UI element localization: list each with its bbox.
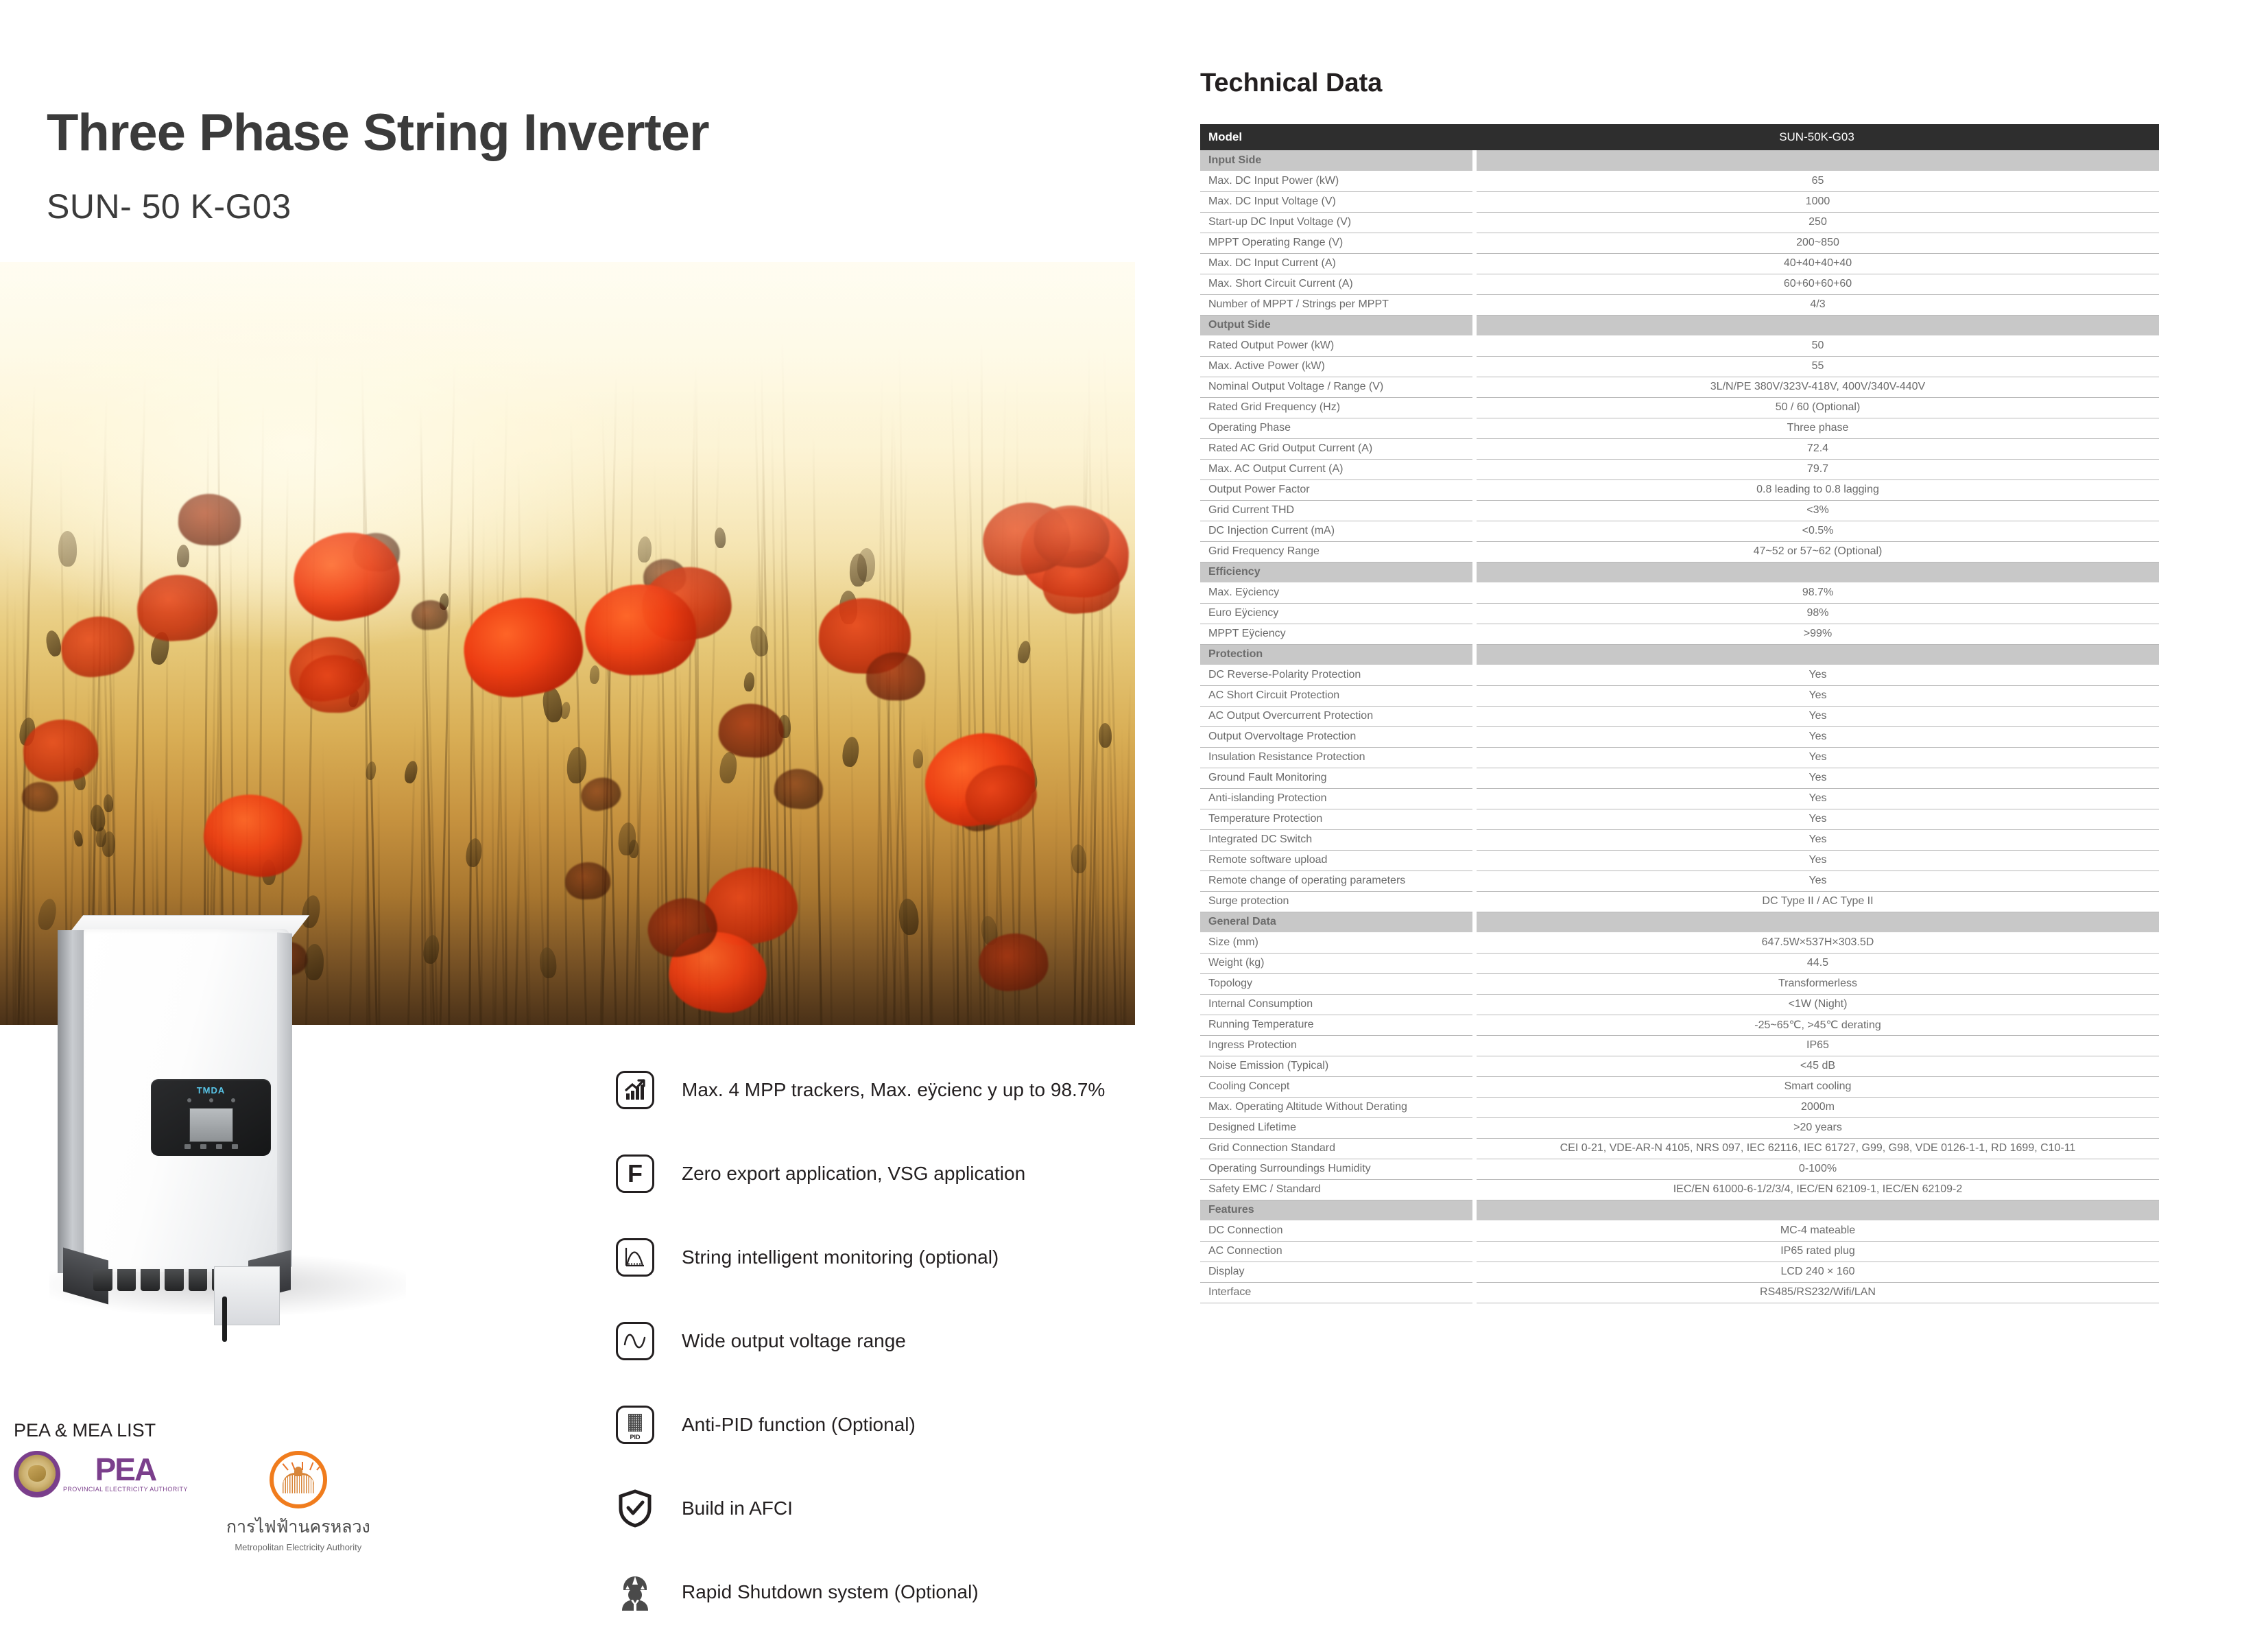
spec-section-row: Features xyxy=(1200,1200,2159,1220)
spec-row-label: AC Connection xyxy=(1200,1241,1475,1262)
feature-item-rapid-shutdown: Rapid Shutdown system (Optional) xyxy=(616,1550,1137,1634)
pid-icon-caption: PID xyxy=(618,1434,652,1441)
inverter-product-image: TMDA xyxy=(43,912,495,1324)
spec-row-label: Rated AC Grid Output Current (A) xyxy=(1200,438,1475,459)
inverter-lcd-screen xyxy=(189,1108,233,1142)
spec-row-value: Yes xyxy=(1475,788,2159,809)
spec-data-row: Max. Short Circuit Current (A)60+60+60+6… xyxy=(1200,274,2159,294)
spec-row-label: Grid Current THD xyxy=(1200,500,1475,521)
photo-stem xyxy=(505,704,508,1025)
photo-bud xyxy=(58,531,77,567)
spec-row-label: Output Overvoltage Protection xyxy=(1200,726,1475,747)
photo-bud xyxy=(718,751,739,785)
spec-row-value: <45 dB xyxy=(1475,1056,2159,1076)
spec-data-row: Grid Connection StandardCEI 0-21, VDE-AR… xyxy=(1200,1138,2159,1159)
photo-bud xyxy=(566,746,588,783)
spec-data-row: Rated AC Grid Output Current (A)72.4 xyxy=(1200,438,2159,459)
spec-row-label: Anti-islanding Protection xyxy=(1200,788,1475,809)
photo-bud xyxy=(850,554,868,587)
spec-data-row: Remote software uploadYes xyxy=(1200,850,2159,871)
spec-data-row: Operating Surroundings Humidity0-100% xyxy=(1200,1159,2159,1179)
inverter-control-panel: TMDA xyxy=(151,1079,271,1156)
feature-item-zero-export: F Zero export application, VSG applicati… xyxy=(616,1132,1137,1216)
spec-row-label: Max. Operating Altitude Without Derating xyxy=(1200,1097,1475,1117)
photo-stem xyxy=(570,420,587,1025)
spec-row-label: MPPT Eÿciency xyxy=(1200,624,1475,644)
photo-sunlight-haze xyxy=(0,262,1135,613)
spec-section-value xyxy=(1475,644,2159,665)
spec-data-row: Surge protectionDC Type II / AC Type II xyxy=(1200,891,2159,912)
certification-title: PEA & MEA LIST xyxy=(14,1420,370,1441)
spec-row-label: Temperature Protection xyxy=(1200,809,1475,829)
spec-data-row: InterfaceRS485/RS232/Wifi/LAN xyxy=(1200,1282,2159,1303)
spec-data-row: DC ConnectionMC-4 mateable xyxy=(1200,1220,2159,1241)
photo-stem xyxy=(1016,372,1020,1025)
spec-data-row: Max. Active Power (kW)55 xyxy=(1200,356,2159,377)
spec-section-row: General Data xyxy=(1200,912,2159,932)
spec-section-row: Efficiency xyxy=(1200,562,2159,582)
feature-item-string-monitoring: String intelligent monitoring (optional) xyxy=(616,1216,1137,1299)
spec-row-value: Yes xyxy=(1475,871,2159,891)
spec-row-value: 55 xyxy=(1475,356,2159,377)
pea-logo-lockup: PEA PROVINCIAL ELECTRICITY AUTHORITY xyxy=(14,1451,188,1497)
mea-english-name: Metropolitan Electricity Authority xyxy=(226,1542,370,1552)
spec-row-value: LCD 240 × 160 xyxy=(1475,1262,2159,1282)
spec-data-row: AC ConnectionIP65 rated plug xyxy=(1200,1241,2159,1262)
spec-row-value: Transformerless xyxy=(1475,973,2159,994)
photo-bud xyxy=(743,672,754,691)
sine-wave-icon xyxy=(616,1322,654,1360)
spec-row-label: Integrated DC Switch xyxy=(1200,829,1475,850)
spec-row-label: Remote software upload xyxy=(1200,850,1475,871)
photo-poppy-flower xyxy=(298,654,370,713)
spec-row-value: 72.4 xyxy=(1475,438,2159,459)
feature-list: Max. 4 MPP trackers, Max. eÿcienc y up t… xyxy=(616,1048,1137,1634)
photo-bud xyxy=(913,749,923,768)
technical-data-heading: Technical Data xyxy=(1200,69,2160,98)
spec-row-label: Remote change of operating parameters xyxy=(1200,871,1475,891)
status-led xyxy=(209,1098,213,1102)
spec-row-value: IP65 rated plug xyxy=(1475,1241,2159,1262)
spec-row-value: DC Type II / AC Type II xyxy=(1475,891,2159,912)
photo-stem xyxy=(5,555,8,1025)
spec-section-label: Output Side xyxy=(1200,315,1475,335)
dc-connector xyxy=(141,1269,160,1291)
spec-row-label: Interface xyxy=(1200,1282,1475,1303)
feature-item-mpp-trackers: Max. 4 MPP trackers, Max. eÿcienc y up t… xyxy=(616,1048,1137,1132)
spec-data-row: Insulation Resistance ProtectionYes xyxy=(1200,747,2159,768)
spec-row-label: AC Output Overcurrent Protection xyxy=(1200,706,1475,726)
spec-data-row: Max. DC Input Current (A)40+40+40+40 xyxy=(1200,253,2159,274)
spec-row-value: <1W (Night) xyxy=(1475,994,2159,1015)
spec-row-label: Start-up DC Input Voltage (V) xyxy=(1200,212,1475,233)
spec-data-row: DisplayLCD 240 × 160 xyxy=(1200,1262,2159,1282)
trend-chart-icon xyxy=(616,1071,654,1109)
spec-data-row: Max. Eÿciency98.7% xyxy=(1200,582,2159,603)
model-header-value: SUN-50K-G03 xyxy=(1475,124,2159,150)
photo-stem xyxy=(1097,791,1099,1025)
photo-bud xyxy=(841,736,860,768)
spec-row-label: AC Short Circuit Protection xyxy=(1200,685,1475,706)
spec-row-label: DC Connection xyxy=(1200,1220,1475,1241)
mea-ray xyxy=(316,1463,322,1470)
spec-row-value: Yes xyxy=(1475,809,2159,829)
spec-data-row: Rated Output Power (kW)50 xyxy=(1200,335,2159,356)
technical-data-section: Technical Data ModelSUN-50K-G03Input Sid… xyxy=(1200,69,2160,1303)
mea-emblem-icon xyxy=(270,1451,327,1508)
spec-section-value xyxy=(1475,315,2159,335)
spec-section-row: Protection xyxy=(1200,644,2159,665)
photo-bud xyxy=(403,759,420,783)
spec-row-value: 0.8 leading to 0.8 lagging xyxy=(1475,479,2159,500)
spec-section-label: Input Side xyxy=(1200,150,1475,171)
spec-row-label: Safety EMC / Standard xyxy=(1200,1179,1475,1200)
spec-row-value: 98% xyxy=(1475,603,2159,624)
model-header-row: ModelSUN-50K-G03 xyxy=(1200,124,2159,150)
spec-row-value: 3L/N/PE 380V/323V-418V, 400V/340V-440V xyxy=(1475,377,2159,397)
pea-wordmark: PEA xyxy=(63,1456,188,1484)
spec-section-label: Efficiency xyxy=(1200,562,1475,582)
spec-row-value: CEI 0-21, VDE-AR-N 4105, NRS 097, IEC 62… xyxy=(1475,1138,2159,1159)
spec-row-value: Yes xyxy=(1475,850,2159,871)
spec-data-row: Anti-islanding ProtectionYes xyxy=(1200,788,2159,809)
worker-icon xyxy=(616,1573,654,1611)
spec-row-value: Smart cooling xyxy=(1475,1076,2159,1097)
spec-section-label: Features xyxy=(1200,1200,1475,1220)
spec-row-label: Max. DC Input Power (kW) xyxy=(1200,171,1475,191)
spec-row-value: Yes xyxy=(1475,665,2159,685)
spec-section-value xyxy=(1475,150,2159,171)
spec-row-label: Max. Eÿciency xyxy=(1200,582,1475,603)
photo-bud xyxy=(44,630,62,658)
inverter-keypad xyxy=(151,1144,271,1149)
spec-row-label: Euro Eÿciency xyxy=(1200,603,1475,624)
spec-row-value: IP65 xyxy=(1475,1035,2159,1056)
feature-label: Build in AFCI xyxy=(682,1497,793,1519)
spec-row-value: MC-4 mateable xyxy=(1475,1220,2159,1241)
spec-data-row: Rated Grid Frequency (Hz)50 / 60 (Option… xyxy=(1200,397,2159,418)
spec-data-row: Max. AC Output Current (A)79.7 xyxy=(1200,459,2159,479)
dc-connector xyxy=(189,1269,208,1291)
photo-stem xyxy=(626,381,634,1025)
photo-stem xyxy=(850,679,855,1025)
spec-row-label: Max. AC Output Current (A) xyxy=(1200,459,1475,479)
spec-data-row: MPPT Eÿciency>99% xyxy=(1200,624,2159,644)
spec-row-value: 44.5 xyxy=(1475,953,2159,973)
spec-data-row: Running Temperature-25~65℃, >45℃ deratin… xyxy=(1200,1015,2159,1035)
spec-section-value xyxy=(1475,912,2159,932)
pid-panel-icon: PID xyxy=(616,1406,654,1444)
spec-row-label: Max. DC Input Current (A) xyxy=(1200,253,1475,274)
spec-data-row: AC Short Circuit ProtectionYes xyxy=(1200,685,2159,706)
feature-label: Rapid Shutdown system (Optional) xyxy=(682,1581,979,1603)
inverter-ac-cable xyxy=(222,1296,227,1342)
photo-poppy-flower xyxy=(21,781,59,812)
spec-row-label: Running Temperature xyxy=(1200,1015,1475,1035)
keypad-button xyxy=(216,1144,222,1149)
photo-poppy-flower xyxy=(178,493,242,546)
product-model-subtitle: SUN- 50 K-G03 xyxy=(47,187,291,226)
certification-logos: PEA PROVINCIAL ELECTRICITY AUTHORITY การ… xyxy=(14,1451,370,1552)
spec-section-value xyxy=(1475,562,2159,582)
spec-row-value: Yes xyxy=(1475,829,2159,850)
spec-section-value xyxy=(1475,1200,2159,1220)
pid-solar-panel-glyph xyxy=(628,1414,642,1432)
spec-row-label: Display xyxy=(1200,1262,1475,1282)
photo-bud xyxy=(1098,723,1112,748)
mea-thai-name: การไฟฟ้านครหลวง xyxy=(226,1513,370,1541)
page-title: Three Phase String Inverter xyxy=(47,103,709,163)
spec-row-label: Max. Active Power (kW) xyxy=(1200,356,1475,377)
pea-logo: PEA PROVINCIAL ELECTRICITY AUTHORITY xyxy=(14,1451,188,1497)
spec-row-value: Yes xyxy=(1475,747,2159,768)
keypad-button xyxy=(232,1144,238,1149)
spec-data-row: Number of MPPT / Strings per MPPT4/3 xyxy=(1200,294,2159,315)
spec-data-row: Internal Consumption<1W (Night) xyxy=(1200,994,2159,1015)
spec-data-row: Max. DC Input Voltage (V)1000 xyxy=(1200,191,2159,212)
photo-bud xyxy=(714,528,726,549)
spec-data-row: AC Output Overcurrent ProtectionYes xyxy=(1200,706,2159,726)
spec-data-row: Output Overvoltage ProtectionYes xyxy=(1200,726,2159,747)
photo-stem xyxy=(1053,774,1058,1025)
spec-row-value: Yes xyxy=(1475,768,2159,788)
pea-seal-icon xyxy=(14,1451,60,1497)
keypad-button xyxy=(184,1144,191,1149)
spec-row-label: Ingress Protection xyxy=(1200,1035,1475,1056)
spec-row-value: 1000 xyxy=(1475,191,2159,212)
feature-item-afci: Build in AFCI xyxy=(616,1467,1137,1550)
spec-row-value: Yes xyxy=(1475,726,2159,747)
dc-connector xyxy=(117,1269,136,1291)
keypad-button xyxy=(200,1144,206,1149)
photo-poppy-flower xyxy=(57,612,137,681)
dc-connector xyxy=(93,1269,112,1291)
spec-section-row: Input Side xyxy=(1200,150,2159,171)
spec-row-value: 98.7% xyxy=(1475,582,2159,603)
pea-subtitle: PROVINCIAL ELECTRICITY AUTHORITY xyxy=(63,1486,188,1493)
feature-label: String intelligent monitoring (optional) xyxy=(682,1246,999,1268)
spec-row-label: Surge protection xyxy=(1200,891,1475,912)
spec-section-row: Output Side xyxy=(1200,315,2159,335)
spec-row-value: 647.5W×537H×303.5D xyxy=(1475,932,2159,953)
inverter-right-edge xyxy=(277,932,292,1267)
photo-bud xyxy=(589,665,600,684)
spec-data-row: Remote change of operating parametersYes xyxy=(1200,871,2159,891)
spec-row-value: Three phase xyxy=(1475,418,2159,438)
spec-row-value: 65 xyxy=(1475,171,2159,191)
spec-data-row: Ingress ProtectionIP65 xyxy=(1200,1035,2159,1056)
spec-row-value: <3% xyxy=(1475,500,2159,521)
mea-logo: การไฟฟ้านครหลวง Metropolitan Electricity… xyxy=(226,1451,370,1552)
spec-row-label: Number of MPPT / Strings per MPPT xyxy=(1200,294,1475,315)
photo-bud xyxy=(176,545,189,568)
spec-row-value: 0-100% xyxy=(1475,1159,2159,1179)
photo-stem xyxy=(517,459,529,1025)
photo-stem xyxy=(537,748,546,1025)
spec-data-row: Safety EMC / StandardIEC/EN 61000-6-1/2/… xyxy=(1200,1179,2159,1200)
feature-label: Zero export application, VSG application xyxy=(682,1163,1025,1185)
spec-data-row: DC Reverse-Polarity ProtectionYes xyxy=(1200,665,2159,685)
spec-data-row: Start-up DC Input Voltage (V)250 xyxy=(1200,212,2159,233)
spec-section-label: General Data xyxy=(1200,912,1475,932)
feature-label: Wide output voltage range xyxy=(682,1330,906,1352)
dc-connector xyxy=(165,1269,184,1291)
spec-row-value: 50 / 60 (Optional) xyxy=(1475,397,2159,418)
spec-data-row: Grid Current THD<3% xyxy=(1200,500,2159,521)
photo-poppy-flower xyxy=(577,773,624,815)
spec-data-row: Max. Operating Altitude Without Derating… xyxy=(1200,1097,2159,1117)
spec-row-value: Yes xyxy=(1475,685,2159,706)
spec-data-row: DC Injection Current (mA)<0.5% xyxy=(1200,521,2159,541)
inverter-status-leds xyxy=(151,1098,271,1102)
spec-row-value: IEC/EN 61000-6-1/2/3/4, IEC/EN 62109-1, … xyxy=(1475,1179,2159,1200)
spec-row-label: Designed Lifetime xyxy=(1200,1117,1475,1138)
spec-data-row: Nominal Output Voltage / Range (V)3L/N/P… xyxy=(1200,377,2159,397)
certification-block: PEA & MEA LIST PEA PROVINCIAL ELECTRICIT… xyxy=(14,1420,370,1552)
spec-data-row: Euro Eÿciency98% xyxy=(1200,603,2159,624)
feature-label: Max. 4 MPP trackers, Max. eÿcienc y up t… xyxy=(682,1079,1105,1101)
left-column: Three Phase String Inverter SUN- 50 K-G0… xyxy=(0,0,1152,1540)
waveform-monitor-icon xyxy=(616,1238,654,1277)
mea-building-glyph xyxy=(283,1473,314,1493)
spec-row-label: Operating Surroundings Humidity xyxy=(1200,1159,1475,1179)
spec-row-value: RS485/RS232/Wifi/LAN xyxy=(1475,1282,2159,1303)
spec-row-value: 60+60+60+60 xyxy=(1475,274,2159,294)
spec-data-row: Integrated DC SwitchYes xyxy=(1200,829,2159,850)
status-led xyxy=(187,1098,191,1102)
mea-ray xyxy=(309,1462,313,1470)
mea-ray xyxy=(282,1463,288,1470)
spec-data-row: Max. DC Input Power (kW)65 xyxy=(1200,171,2159,191)
feature-item-anti-pid: PID Anti-PID function (Optional) xyxy=(616,1383,1137,1467)
spec-row-value: 79.7 xyxy=(1475,459,2159,479)
spec-row-label: MPPT Operating Range (V) xyxy=(1200,233,1475,253)
photo-poppy-flower xyxy=(584,583,697,677)
photo-stem xyxy=(514,809,521,1025)
photo-bud xyxy=(538,947,558,979)
spec-row-label: Size (mm) xyxy=(1200,932,1475,953)
spec-row-label: Max. DC Input Voltage (V) xyxy=(1200,191,1475,212)
spec-row-label: Cooling Concept xyxy=(1200,1076,1475,1097)
photo-stem xyxy=(929,606,938,1025)
spec-data-row: Size (mm)647.5W×537H×303.5D xyxy=(1200,932,2159,953)
spec-row-label: DC Reverse-Polarity Protection xyxy=(1200,665,1475,685)
spec-row-label: Rated Grid Frequency (Hz) xyxy=(1200,397,1475,418)
spec-row-label: Internal Consumption xyxy=(1200,994,1475,1015)
spec-row-value: Yes xyxy=(1475,706,2159,726)
shield-check-icon xyxy=(616,1489,654,1528)
spec-row-value: >99% xyxy=(1475,624,2159,644)
spec-row-label: Topology xyxy=(1200,973,1475,994)
photo-bud xyxy=(898,897,920,935)
spec-data-row: MPPT Operating Range (V)200~850 xyxy=(1200,233,2159,253)
specifications-table: ModelSUN-50K-G03Input SideMax. DC Input … xyxy=(1200,124,2159,1303)
spec-row-label: Operating Phase xyxy=(1200,418,1475,438)
photo-stem xyxy=(546,501,549,1025)
photo-bud xyxy=(637,536,652,563)
poppy-field-photo xyxy=(0,262,1135,1025)
spec-row-value: <0.5% xyxy=(1475,521,2159,541)
spec-row-value: 200~850 xyxy=(1475,233,2159,253)
spec-row-label: Grid Frequency Range xyxy=(1200,541,1475,562)
spec-row-label: Noise Emission (Typical) xyxy=(1200,1056,1475,1076)
spec-row-label: Grid Connection Standard xyxy=(1200,1138,1475,1159)
spec-data-row: TopologyTransformerless xyxy=(1200,973,2159,994)
model-header-label: Model xyxy=(1200,124,1475,150)
photo-poppy-flower xyxy=(457,589,590,705)
spec-data-row: Operating PhaseThree phase xyxy=(1200,418,2159,438)
spec-data-row: Grid Frequency Range47~52 or 57~62 (Opti… xyxy=(1200,541,2159,562)
spec-row-value: -25~65℃, >45℃ derating xyxy=(1475,1015,2159,1035)
spec-data-row: Temperature ProtectionYes xyxy=(1200,809,2159,829)
spec-row-value: 47~52 or 57~62 (Optional) xyxy=(1475,541,2159,562)
spec-data-row: Ground Fault MonitoringYes xyxy=(1200,768,2159,788)
spec-data-row: Noise Emission (Typical)<45 dB xyxy=(1200,1056,2159,1076)
feature-item-wide-voltage: Wide output voltage range xyxy=(616,1299,1137,1383)
spec-data-row: Output Power Factor0.8 leading to 0.8 la… xyxy=(1200,479,2159,500)
spec-row-label: Max. Short Circuit Current (A) xyxy=(1200,274,1475,294)
feature-label: Anti-PID function (Optional) xyxy=(682,1414,916,1436)
spec-row-value: 40+40+40+40 xyxy=(1475,253,2159,274)
spec-data-row: Designed Lifetime>20 years xyxy=(1200,1117,2159,1138)
spec-row-value: 2000m xyxy=(1475,1097,2159,1117)
spec-data-row: Cooling ConceptSmart cooling xyxy=(1200,1076,2159,1097)
specifications-table-body: ModelSUN-50K-G03Input SideMax. DC Input … xyxy=(1200,124,2159,1303)
spec-row-label: Ground Fault Monitoring xyxy=(1200,768,1475,788)
spec-row-label: Nominal Output Voltage / Range (V) xyxy=(1200,377,1475,397)
spec-section-label: Protection xyxy=(1200,644,1475,665)
spec-row-value: 50 xyxy=(1475,335,2159,356)
spec-row-label: DC Injection Current (mA) xyxy=(1200,521,1475,541)
spec-row-label: Output Power Factor xyxy=(1200,479,1475,500)
spec-row-value: 4/3 xyxy=(1475,294,2159,315)
inverter-brand-mark: TMDA xyxy=(151,1085,271,1096)
photo-poppy-flower xyxy=(866,652,926,701)
spec-row-label: Weight (kg) xyxy=(1200,953,1475,973)
status-led xyxy=(231,1098,235,1102)
spec-row-value: 250 xyxy=(1475,212,2159,233)
spec-row-label: Insulation Resistance Protection xyxy=(1200,747,1475,768)
letter-f-icon: F xyxy=(616,1155,654,1193)
photo-stem xyxy=(797,803,802,1025)
spec-row-value: >20 years xyxy=(1475,1117,2159,1138)
spec-data-row: Weight (kg)44.5 xyxy=(1200,953,2159,973)
spec-row-label: Rated Output Power (kW) xyxy=(1200,335,1475,356)
photo-stem xyxy=(826,615,833,1025)
